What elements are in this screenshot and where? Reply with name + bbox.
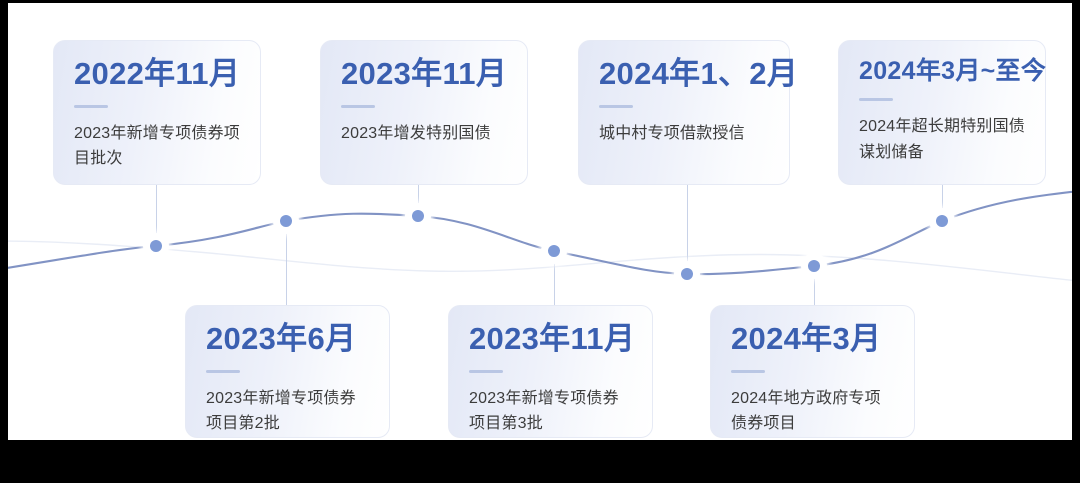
card-title: 2023年6月 bbox=[206, 323, 369, 356]
timeline-node[interactable] bbox=[273, 208, 299, 234]
card-title: 2023年11月 bbox=[469, 323, 632, 356]
timeline-node[interactable] bbox=[674, 261, 700, 287]
card-title: 2023年11月 bbox=[341, 58, 507, 91]
timeline-node[interactable] bbox=[405, 203, 431, 229]
card-title: 2024年1、2月 bbox=[599, 58, 769, 91]
card-description: 2023年增发特别国债 bbox=[341, 121, 507, 147]
timeline-card[interactable]: 2024年3月2024年地方政府专项债券项目 bbox=[710, 305, 915, 438]
primary-wave-path bbox=[8, 189, 1072, 274]
timeline-card[interactable]: 2024年1、2月城中村专项借款授信 bbox=[578, 40, 790, 185]
timeline-node[interactable] bbox=[801, 253, 827, 279]
timeline-node[interactable] bbox=[541, 238, 567, 264]
timeline-node[interactable] bbox=[143, 233, 169, 259]
card-divider bbox=[599, 105, 633, 108]
card-divider bbox=[341, 105, 375, 108]
infographic-frame: 2022年11月2023年新增专项债券项目批次2023年11月2023年增发特别… bbox=[8, 3, 1072, 440]
card-divider bbox=[206, 370, 240, 373]
timeline-card[interactable]: 2023年6月2023年新增专项债券项目第2批 bbox=[185, 305, 390, 438]
card-description: 2023年新增专项债券项目批次 bbox=[74, 121, 240, 173]
card-description: 2024年超长期特别国债谋划储备 bbox=[859, 114, 1025, 166]
card-description: 2024年地方政府专项债券项目 bbox=[731, 386, 894, 438]
card-divider bbox=[731, 370, 765, 373]
card-title: 2022年11月 bbox=[74, 58, 240, 91]
timeline-card[interactable]: 2023年11月2023年增发特别国债 bbox=[320, 40, 528, 185]
timeline-card[interactable]: 2023年11月2023年新增专项债券项目第3批 bbox=[448, 305, 653, 438]
timeline-card[interactable]: 2022年11月2023年新增专项债券项目批次 bbox=[53, 40, 261, 185]
timeline-node[interactable] bbox=[929, 208, 955, 234]
card-description: 城中村专项借款授信 bbox=[599, 121, 769, 147]
card-title: 2024年3月~至今 bbox=[859, 58, 1025, 84]
card-description: 2023年新增专项债券项目第2批 bbox=[206, 386, 369, 438]
timeline-card[interactable]: 2024年3月~至今2024年超长期特别国债谋划储备 bbox=[838, 40, 1046, 185]
card-description: 2023年新增专项债券项目第3批 bbox=[469, 386, 632, 438]
card-divider bbox=[859, 98, 893, 101]
card-divider bbox=[74, 105, 108, 108]
card-divider bbox=[469, 370, 503, 373]
card-title: 2024年3月 bbox=[731, 323, 894, 356]
